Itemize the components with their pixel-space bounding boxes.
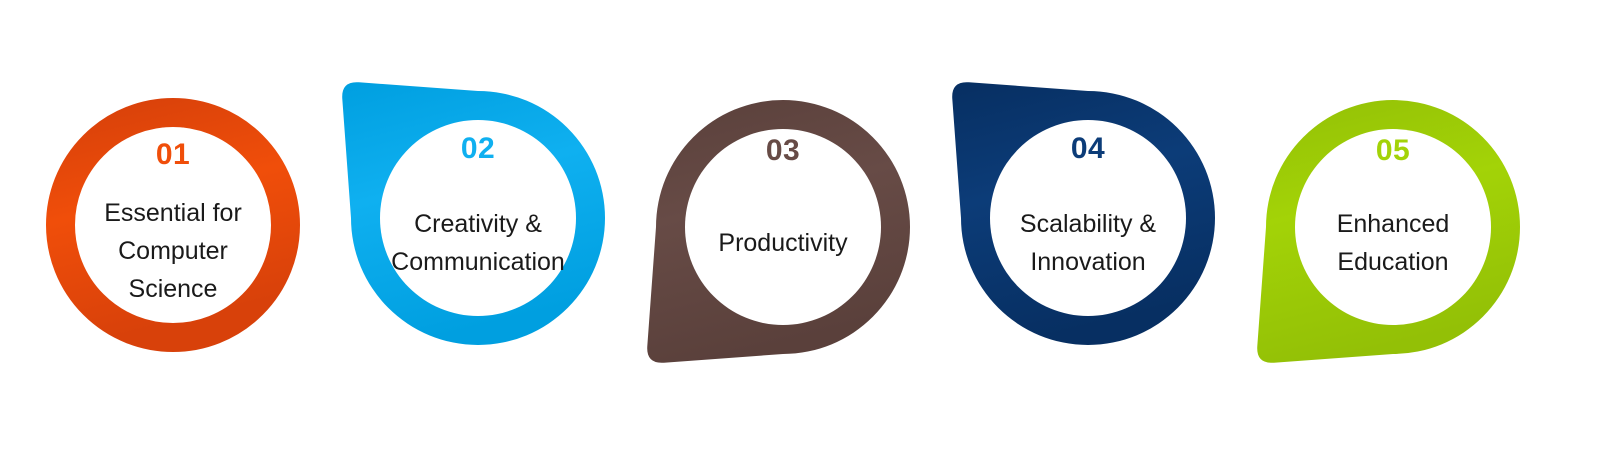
step-title-02: Creativity & Communication <box>368 205 588 281</box>
step-title-03: Productivity <box>673 224 893 262</box>
step-title-01: Essential for Computer Science <box>63 194 283 308</box>
step-title-05: Enhanced Education <box>1283 205 1503 281</box>
step-number-01: 01 <box>73 140 273 170</box>
step-number-04: 04 <box>988 134 1188 164</box>
step-number-03: 03 <box>683 136 883 166</box>
step-title-04: Scalability & Innovation <box>978 205 1198 281</box>
step-number-05: 05 <box>1293 136 1493 166</box>
infographic-canvas: 01Essential for Computer Science02Creati… <box>0 0 1600 468</box>
step-number-02: 02 <box>378 134 578 164</box>
